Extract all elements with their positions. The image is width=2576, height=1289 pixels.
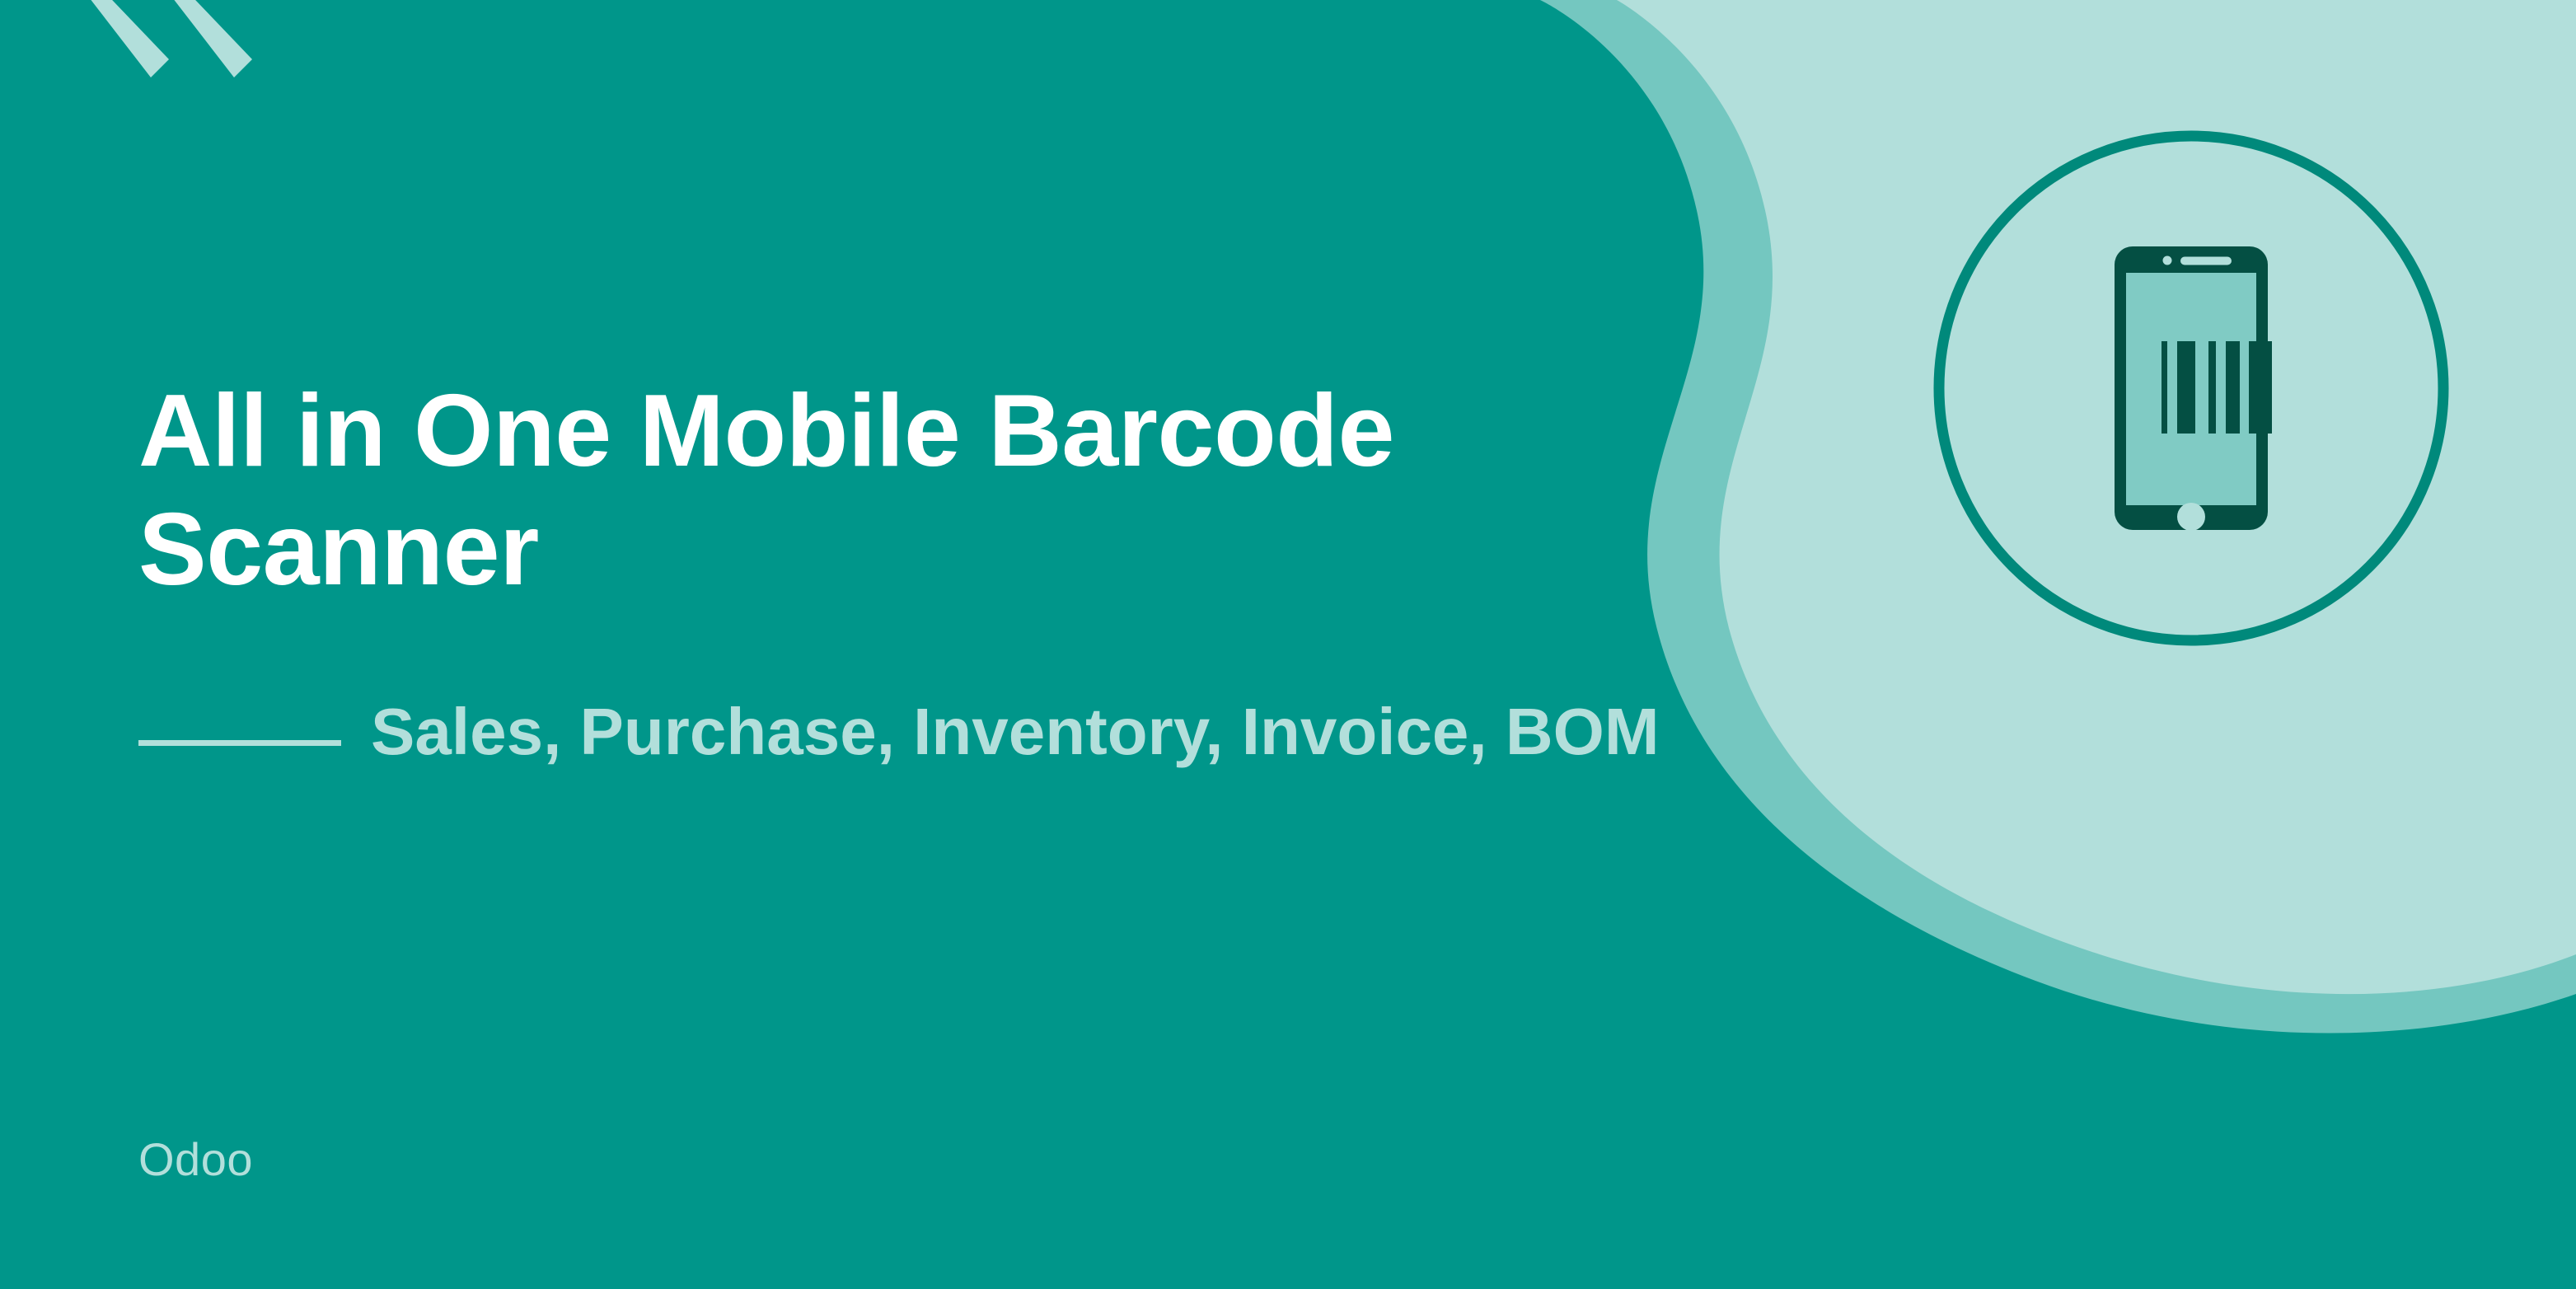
speaker-slot-icon xyxy=(2180,257,2232,265)
slide-banner: All in One Mobile Barcode Scanner Sales,… xyxy=(0,0,2576,1289)
page-subtitle: Sales, Purchase, Inventory, Invoice, BOM xyxy=(371,691,1704,773)
subtitle-row: Sales, Purchase, Inventory, Invoice, BOM xyxy=(138,691,1704,773)
home-button-icon xyxy=(2177,503,2205,531)
mobile-barcode-scanner-icon xyxy=(1923,120,2459,656)
text-content: All in One Mobile Barcode Scanner Sales,… xyxy=(138,0,1787,1289)
front-camera-dot-icon xyxy=(2163,256,2172,265)
smartphone-icon xyxy=(2115,246,2272,531)
page-title: All in One Mobile Barcode Scanner xyxy=(138,373,1729,610)
subtitle-divider-rule xyxy=(138,740,341,746)
brand-label: Odoo xyxy=(138,1132,253,1186)
